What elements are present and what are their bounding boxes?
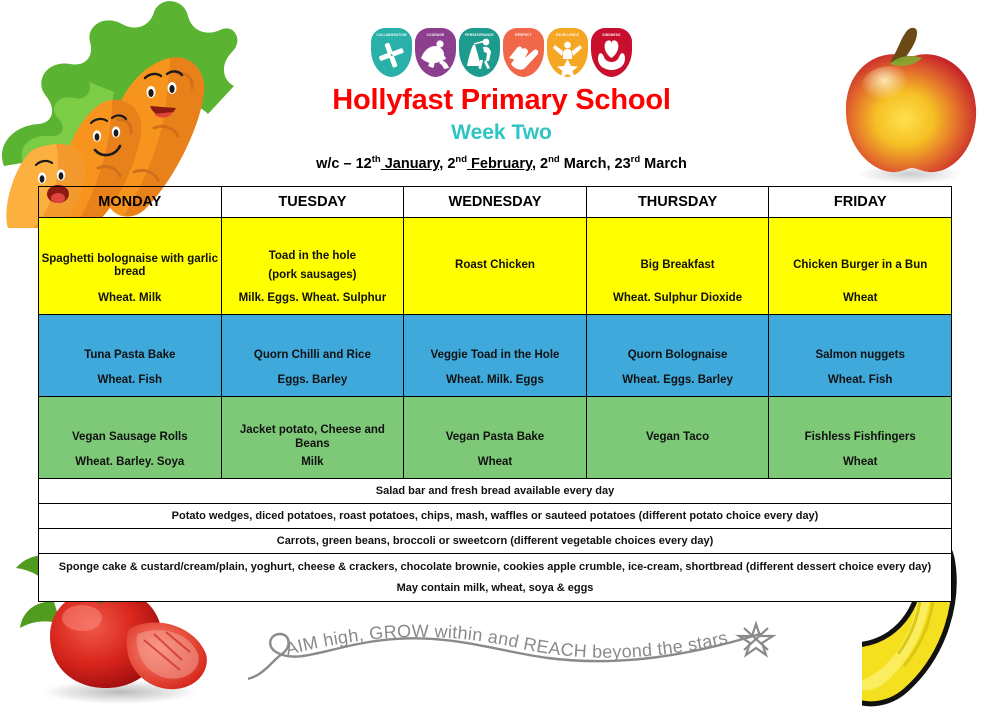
meal-cell-alt-monday: Tuna Pasta Bake Wheat. Fish (39, 315, 222, 397)
side-row-vegetables: Carrots, green beans, broccoli or sweetc… (39, 529, 952, 554)
table-header-row: MONDAY TUESDAY WEDNESDAY THURSDAY FRIDAY (39, 187, 952, 218)
meal-cell-main-friday: Chicken Burger in a Bun Wheat (769, 218, 952, 315)
crest-courage: COURAGE (415, 28, 456, 77)
date-day-3: 2 (536, 156, 548, 172)
day-header-monday: MONDAY (39, 187, 222, 218)
meal-name: Veggie Toad in the Hole (404, 349, 586, 362)
crest-perseverance: PERSEVERANCE (459, 28, 500, 77)
meal-name: Big Breakfast (587, 259, 769, 272)
meal-subtext: (pork sausages) (222, 269, 404, 282)
meal-cell-vegan-tuesday: Jacket potato, Cheese and Beans Milk (221, 397, 404, 479)
crest-label-respect: RESPECT (503, 33, 544, 37)
school-motto-ribbon: AIM high, GROW within and REACH beyond t… (248, 614, 778, 686)
meal-cell-alt-tuesday: Quorn Chilli and Rice Eggs. Barley (221, 315, 404, 397)
meal-cell-main-thursday: Big Breakfast Wheat. Sulphur Dioxide (586, 218, 769, 315)
meal-allergens: Wheat. Fish (45, 374, 215, 387)
day-header-thursday: THURSDAY (586, 187, 769, 218)
meal-cell-vegan-monday: Vegan Sausage Rolls Wheat. Barley. Soya (39, 397, 222, 479)
crest-collaboration: COLLABORATION (371, 28, 412, 77)
date-prefix: w/c – 12 (316, 156, 372, 172)
meal-allergens: Wheat. Milk. Eggs (410, 374, 580, 387)
crest-label-kindness: KINDNESS (591, 33, 632, 37)
side-row-salad: Salad bar and fresh bread available ever… (39, 479, 952, 504)
school-name: Hollyfast Primary School (0, 84, 1003, 117)
crest-label-perseverance: PERSEVERANCE (459, 33, 500, 37)
side-text-salad: Salad bar and fresh bread available ever… (39, 479, 952, 504)
date-month-4: March (640, 156, 687, 172)
crest-label-collaboration: COLLABORATION (371, 33, 412, 37)
meal-cell-vegan-wednesday: Vegan Pasta Bake Wheat (404, 397, 587, 479)
meal-cell-main-wednesday: Roast Chicken (404, 218, 587, 315)
meal-name: Fishless Fishfingers (769, 431, 951, 444)
date-sup-4: rd (631, 154, 641, 165)
meal-cell-vegan-friday: Fishless Fishfingers Wheat (769, 397, 952, 479)
date-month-3: March, 23 (560, 156, 631, 172)
meal-cell-alt-friday: Salmon nuggets Wheat. Fish (769, 315, 952, 397)
meal-allergens: Wheat. Barley. Soya (45, 456, 215, 469)
meal-name: Quorn Bolognaise (587, 349, 769, 362)
date-line: w/c – 12th January, 2nd February, 2nd Ma… (0, 154, 1003, 172)
week-title: Week Two (0, 121, 1003, 145)
meal-allergens: Wheat. Fish (775, 374, 945, 387)
day-header-wednesday: WEDNESDAY (404, 187, 587, 218)
meal-name: Salmon nuggets (769, 349, 951, 362)
side-row-potatoes: Potato wedges, diced potatoes, roast pot… (39, 504, 952, 529)
crest-label-excellence: EXCELLENCE (547, 33, 588, 37)
meal-cell-vegan-thursday: Vegan Taco (586, 397, 769, 479)
dessert-row: Sponge cake & custard/cream/plain, yoghu… (39, 554, 952, 602)
crest-label-courage: COURAGE (415, 33, 456, 37)
meal-allergens: Milk. Eggs. Wheat. Sulphur (228, 292, 398, 305)
meal-name: Toad in the hole (222, 250, 404, 263)
meal-name: Jacket potato, Cheese and Beans (222, 424, 404, 450)
document-header: COLLABORATION COURAGE (0, 0, 1003, 172)
meal-allergens: Eggs. Barley (228, 374, 398, 387)
dessert-cell: Sponge cake & custard/cream/plain, yoghu… (39, 554, 952, 602)
weekly-menu-table: MONDAY TUESDAY WEDNESDAY THURSDAY FRIDAY… (38, 186, 952, 602)
date-sup-3: nd (548, 154, 560, 165)
meal-name: Vegan Pasta Bake (404, 431, 586, 444)
crest-excellence: EXCELLENCE (547, 28, 588, 77)
meal-allergens: Wheat. Sulphur Dioxide (593, 292, 763, 305)
date-month-2: February, (467, 156, 536, 172)
crest-kindness: KINDNESS (591, 28, 632, 77)
meal-name: Vegan Taco (587, 431, 769, 444)
crest-respect: RESPECT (503, 28, 544, 77)
date-day-2: 2 (443, 156, 455, 172)
meal-allergens: Wheat (410, 456, 580, 469)
meal-allergens: Wheat (775, 292, 945, 305)
meal-name: Spaghetti bolognaise with garlic bread (39, 253, 221, 279)
school-values-crest-row: COLLABORATION COURAGE (0, 0, 1003, 77)
date-sup-1: th (372, 154, 381, 165)
menu-row-main: Spaghetti bolognaise with garlic bread W… (39, 218, 952, 315)
meal-allergens: Wheat. Eggs. Barley (593, 374, 763, 387)
meal-name: Vegan Sausage Rolls (39, 431, 221, 444)
meal-allergens: Milk (228, 456, 398, 469)
side-text-potatoes: Potato wedges, diced potatoes, roast pot… (39, 504, 952, 529)
side-text-vegetables: Carrots, green beans, broccoli or sweetc… (39, 529, 952, 554)
meal-allergens: Wheat. Milk (45, 292, 215, 305)
day-header-tuesday: TUESDAY (221, 187, 404, 218)
svg-text:AIM high, GROW within and REAC: AIM high, GROW within and REACH beyond t… (283, 621, 729, 662)
meal-cell-alt-wednesday: Veggie Toad in the Hole Wheat. Milk. Egg… (404, 315, 587, 397)
meal-name: Tuna Pasta Bake (39, 349, 221, 362)
date-sup-2: nd (455, 154, 467, 165)
meal-name: Roast Chicken (404, 259, 586, 272)
dessert-allergy-note: May contain milk, wheat, soya & eggs (39, 578, 951, 599)
dessert-text: Sponge cake & custard/cream/plain, yoghu… (39, 557, 951, 578)
meal-name: Chicken Burger in a Bun (769, 259, 951, 272)
motto-textpath: AIM high, GROW within and REACH beyond t… (283, 621, 729, 662)
meal-allergens: Wheat (775, 456, 945, 469)
day-header-friday: FRIDAY (769, 187, 952, 218)
date-month-1: January, (381, 156, 444, 172)
menu-row-vegan: Vegan Sausage Rolls Wheat. Barley. Soya … (39, 397, 952, 479)
meal-cell-main-tuesday: Toad in the hole (pork sausages) Milk. E… (221, 218, 404, 315)
meal-name: Quorn Chilli and Rice (222, 349, 404, 362)
meal-cell-main-monday: Spaghetti bolognaise with garlic bread W… (39, 218, 222, 315)
menu-row-alternative: Tuna Pasta Bake Wheat. Fish Quorn Chilli… (39, 315, 952, 397)
meal-cell-alt-thursday: Quorn Bolognaise Wheat. Eggs. Barley (586, 315, 769, 397)
